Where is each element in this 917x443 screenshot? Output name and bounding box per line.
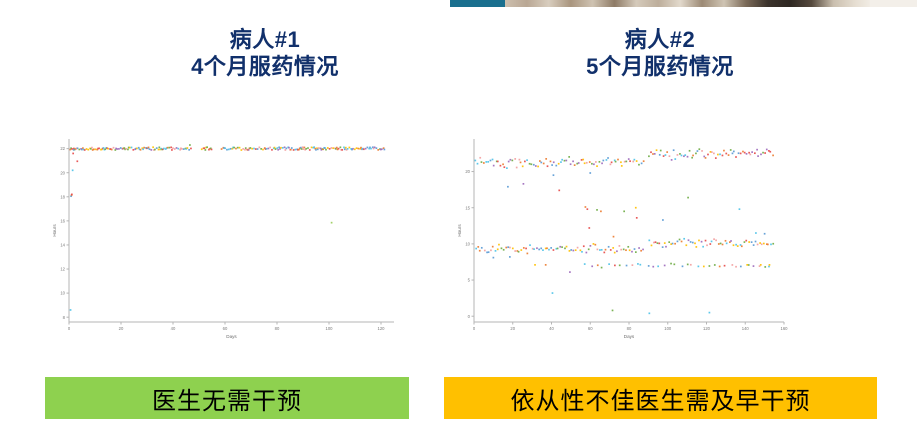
- banner-left-label: 医生无需干预: [152, 381, 302, 416]
- svg-text:80: 80: [627, 326, 632, 331]
- banner-right-label: 依从性不佳医生需及早干预: [511, 381, 811, 416]
- svg-text:140: 140: [742, 326, 750, 331]
- scatter-plot-left: 810121416182022020406080100120DaysHours: [45, 133, 400, 348]
- svg-text:5: 5: [468, 278, 471, 283]
- svg-text:100: 100: [664, 326, 672, 331]
- plot-area-left: 810121416182022020406080100120DaysHours: [45, 133, 400, 348]
- banner-no-intervention: 医生无需干预: [45, 377, 409, 419]
- svg-text:80: 80: [275, 326, 280, 331]
- svg-text:10: 10: [465, 241, 470, 246]
- svg-text:0: 0: [68, 326, 71, 331]
- svg-text:0: 0: [473, 326, 476, 331]
- svg-text:8: 8: [63, 315, 66, 320]
- svg-text:16: 16: [60, 218, 65, 223]
- svg-text:60: 60: [588, 326, 593, 331]
- svg-text:40: 40: [171, 326, 176, 331]
- svg-text:120: 120: [378, 326, 386, 331]
- svg-text:Days: Days: [624, 334, 635, 339]
- chart-patient-2: 05101520020406080100120140160DaysHours: [450, 133, 790, 348]
- svg-text:18: 18: [60, 194, 65, 199]
- svg-text:Days: Days: [226, 334, 237, 339]
- svg-text:22: 22: [60, 146, 65, 151]
- strip-tail: [870, 0, 917, 7]
- top-photo-strip: [0, 0, 917, 7]
- banner-early-intervention: 依从性不佳医生需及早干预: [444, 377, 877, 419]
- plot-area-right: 05101520020406080100120140160DaysHours: [450, 133, 790, 348]
- svg-text:Hours: Hours: [52, 224, 57, 237]
- svg-text:20: 20: [60, 170, 65, 175]
- svg-text:10: 10: [60, 291, 65, 296]
- photo-edge-strip: [505, 0, 870, 7]
- svg-text:160: 160: [781, 326, 789, 331]
- svg-text:Hours: Hours: [457, 224, 462, 237]
- svg-text:12: 12: [60, 267, 65, 272]
- svg-text:0: 0: [468, 314, 471, 319]
- svg-text:15: 15: [465, 205, 470, 210]
- teal-accent-bar: [450, 0, 505, 7]
- svg-text:60: 60: [223, 326, 228, 331]
- svg-text:20: 20: [119, 326, 124, 331]
- svg-text:120: 120: [703, 326, 711, 331]
- scatter-plot-right: 05101520020406080100120140160DaysHours: [450, 133, 790, 348]
- svg-text:20: 20: [510, 326, 515, 331]
- svg-text:14: 14: [60, 243, 65, 248]
- svg-text:100: 100: [326, 326, 334, 331]
- svg-text:20: 20: [465, 169, 470, 174]
- panel-title-left: 病人#1 4个月服药情况: [100, 26, 430, 80]
- svg-text:40: 40: [549, 326, 554, 331]
- panel-title-right: 病人#2 5个月服药情况: [490, 26, 830, 80]
- chart-patient-1: 810121416182022020406080100120DaysHours: [45, 133, 400, 348]
